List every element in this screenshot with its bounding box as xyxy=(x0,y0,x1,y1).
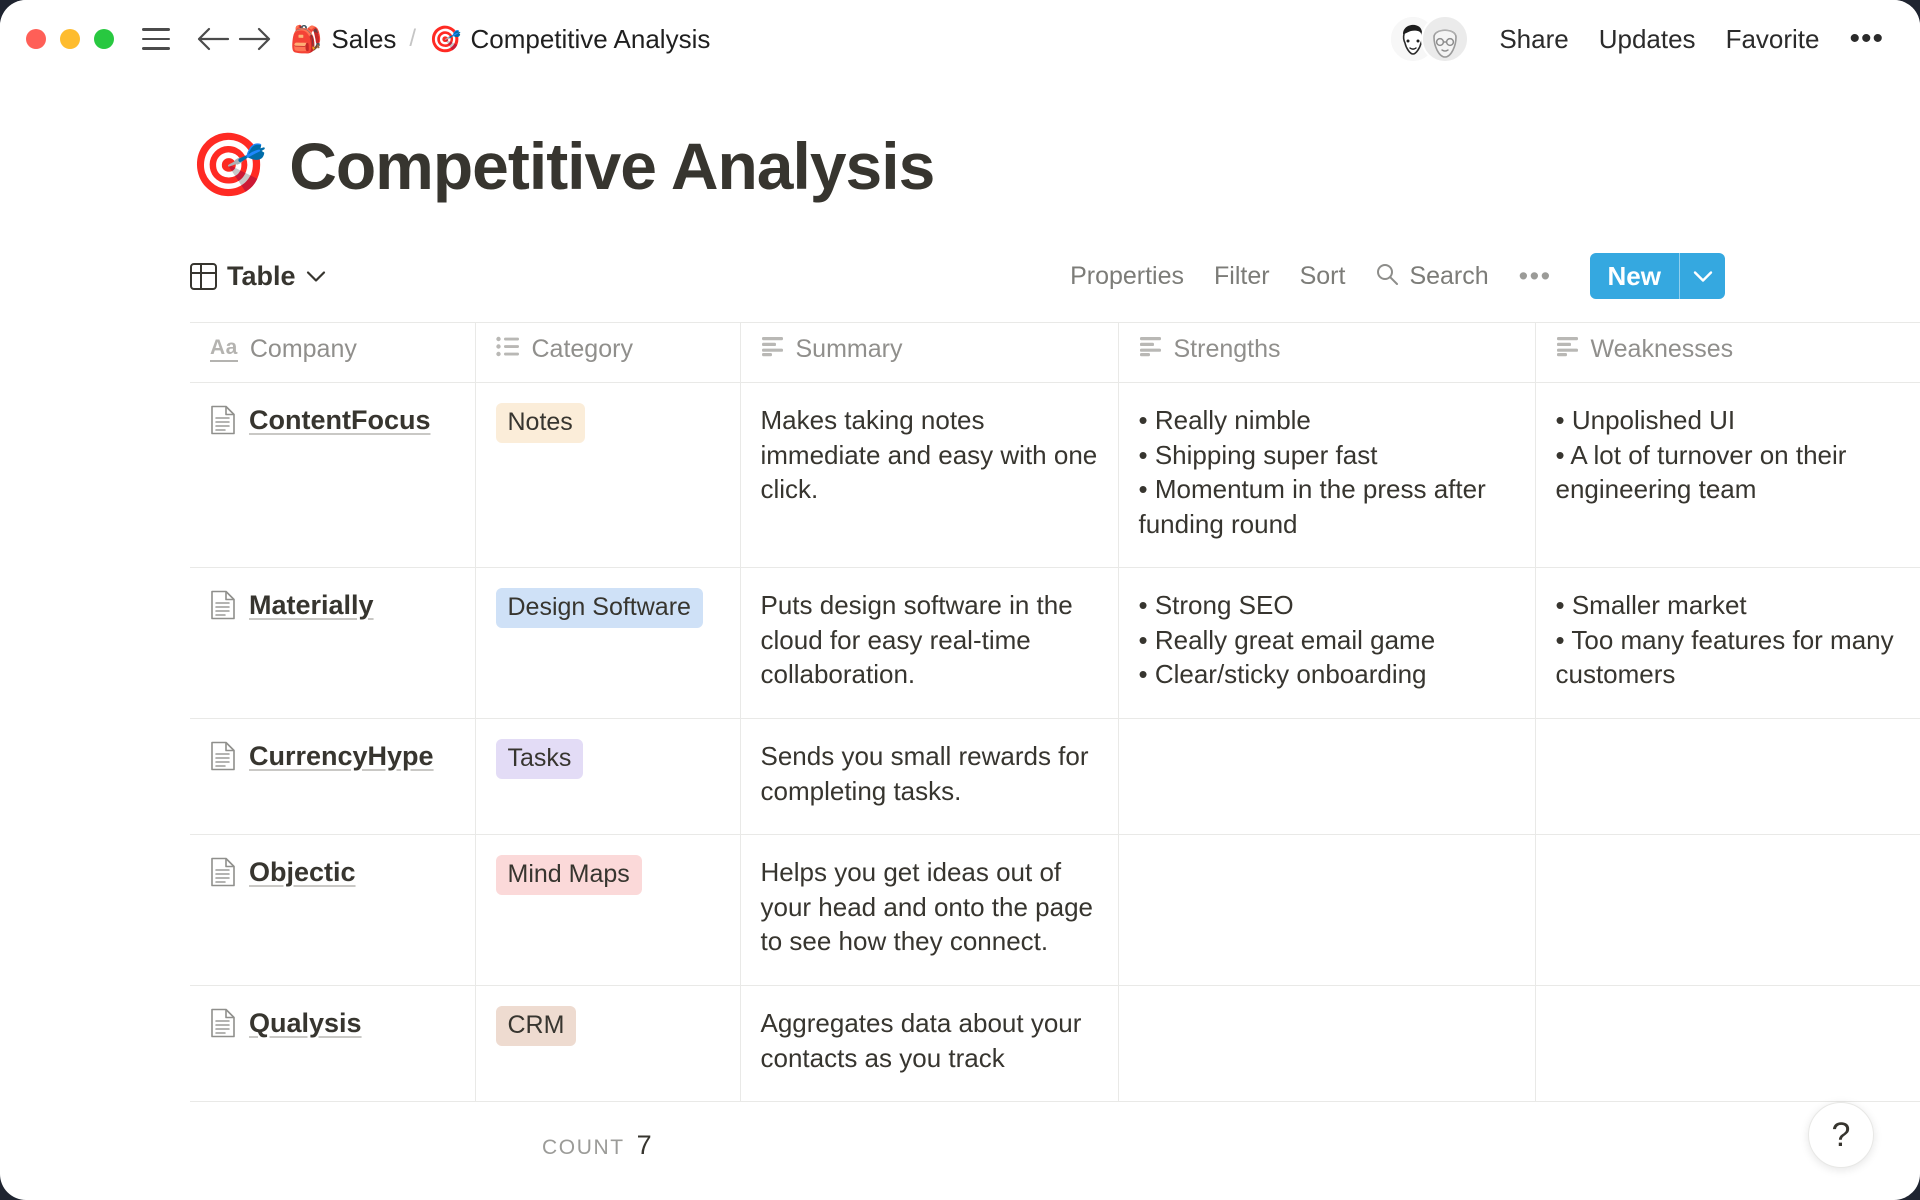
select-list-icon xyxy=(496,335,520,364)
new-button[interactable]: New xyxy=(1590,253,1725,299)
category-tag[interactable]: Mind Maps xyxy=(496,855,642,895)
navigate-forward-icon[interactable] xyxy=(234,18,276,60)
text-paragraph-icon xyxy=(1139,335,1162,364)
toolbar-actions: Properties Filter Sort Search ••• New xyxy=(1070,253,1725,299)
filter-button[interactable]: Filter xyxy=(1214,262,1270,291)
cell-company[interactable]: Materially xyxy=(190,568,475,719)
cell-category[interactable]: Notes xyxy=(475,383,740,568)
summary-text: Makes taking notes immediate and easy wi… xyxy=(761,405,1098,504)
text-paragraph-icon xyxy=(761,335,784,364)
window-controls xyxy=(26,29,114,49)
column-header-summary[interactable]: Summary xyxy=(740,323,1118,383)
summary-text: Helps you get ideas out of your head and… xyxy=(761,857,1094,956)
cell-category[interactable]: Design Software xyxy=(475,568,740,719)
summary-text: Aggregates data about your contacts as y… xyxy=(761,1008,1082,1073)
breadcrumb-current-link[interactable]: Competitive Analysis xyxy=(470,24,710,55)
table-row[interactable]: CurrencyHypeTasksSends you small rewards… xyxy=(190,719,1920,835)
maximize-window-button[interactable] xyxy=(94,29,114,49)
cell-strengths[interactable] xyxy=(1118,985,1535,1101)
cell-summary[interactable]: Makes taking notes immediate and easy wi… xyxy=(740,383,1118,568)
tab-table-view[interactable]: Table xyxy=(190,261,326,292)
page-document-icon xyxy=(210,857,236,896)
breadcrumb-separator: / xyxy=(409,25,416,53)
column-label: Company xyxy=(250,335,357,364)
target-icon: 🎯 xyxy=(429,26,461,52)
category-tag[interactable]: Tasks xyxy=(496,739,584,779)
cell-company[interactable]: ContentFocus xyxy=(190,383,475,568)
cell-weaknesses[interactable] xyxy=(1535,719,1920,835)
search-icon xyxy=(1375,262,1399,291)
search-label: Search xyxy=(1409,262,1488,291)
cell-company[interactable]: Objectic xyxy=(190,835,475,986)
company-name-link[interactable]: Qualysis xyxy=(249,1006,362,1042)
table-header-row: Aa Company xyxy=(190,323,1920,383)
page-document-icon xyxy=(210,741,236,780)
page-document-icon xyxy=(210,405,236,444)
summary-text: Puts design software in the cloud for ea… xyxy=(761,590,1073,689)
strengths-text: • Really nimble • Shipping super fast • … xyxy=(1139,405,1486,539)
close-window-button[interactable] xyxy=(26,29,46,49)
cell-weaknesses[interactable] xyxy=(1535,835,1920,986)
strengths-text: • Strong SEO • Really great email game •… xyxy=(1139,590,1436,689)
breadcrumb-parent-link[interactable]: Sales xyxy=(331,24,396,55)
share-button[interactable]: Share xyxy=(1499,24,1568,55)
cell-weaknesses[interactable]: • Smaller market • Too many features for… xyxy=(1535,568,1920,719)
column-header-strengths[interactable]: Strengths xyxy=(1118,323,1535,383)
column-label: Weaknesses xyxy=(1591,335,1734,364)
column-label: Summary xyxy=(796,335,903,364)
column-label: Strengths xyxy=(1174,335,1281,364)
title-bar: 🎒 Sales / 🎯 Competitive Analysis xyxy=(0,0,1920,78)
cell-company[interactable]: CurrencyHype xyxy=(190,719,475,835)
cell-strengths[interactable]: • Strong SEO • Really great email game •… xyxy=(1118,568,1535,719)
new-button-chevron-down-icon[interactable] xyxy=(1679,253,1725,299)
page-title[interactable]: Competitive Analysis xyxy=(289,128,934,204)
properties-button[interactable]: Properties xyxy=(1070,262,1184,291)
database-toolbar: Table Properties Filter Sort xyxy=(0,248,1920,304)
search-button[interactable]: Search xyxy=(1375,262,1488,291)
cell-strengths[interactable]: • Really nimble • Shipping super fast • … xyxy=(1118,383,1535,568)
database-table-container: Aa Company xyxy=(0,322,1920,1161)
sort-button[interactable]: Sort xyxy=(1300,262,1346,291)
page-document-icon xyxy=(210,1008,236,1047)
category-tag[interactable]: Design Software xyxy=(496,588,703,628)
backpack-icon: 🎒 xyxy=(290,26,322,52)
cell-summary[interactable]: Helps you get ideas out of your head and… xyxy=(740,835,1118,986)
cell-summary[interactable]: Puts design software in the cloud for ea… xyxy=(740,568,1118,719)
favorite-button[interactable]: Favorite xyxy=(1726,24,1820,55)
table-row[interactable]: QualysisCRMAggregates data about your co… xyxy=(190,985,1920,1101)
updates-button[interactable]: Updates xyxy=(1599,24,1696,55)
chevron-down-icon[interactable] xyxy=(306,270,326,283)
help-button[interactable]: ? xyxy=(1808,1102,1874,1168)
table-row[interactable]: MateriallyDesign SoftwarePuts design sof… xyxy=(190,568,1920,719)
column-label: Category xyxy=(532,335,633,364)
table-view-icon xyxy=(190,263,217,290)
cell-summary[interactable]: Aggregates data about your contacts as y… xyxy=(740,985,1118,1101)
count-value[interactable]: 7 xyxy=(637,1130,652,1161)
cell-category[interactable]: CRM xyxy=(475,985,740,1101)
toolbar-more-icon[interactable]: ••• xyxy=(1519,261,1552,292)
column-header-category[interactable]: Category xyxy=(475,323,740,383)
category-tag[interactable]: CRM xyxy=(496,1006,577,1046)
company-name-link[interactable]: ContentFocus xyxy=(249,403,431,439)
minimize-window-button[interactable] xyxy=(60,29,80,49)
avatar[interactable] xyxy=(1421,15,1469,63)
page-body: 🎯 Competitive Analysis Table Properties … xyxy=(0,78,1920,1200)
new-button-label: New xyxy=(1590,253,1679,299)
company-name-link[interactable]: CurrencyHype xyxy=(249,739,434,775)
column-header-company[interactable]: Aa Company xyxy=(190,323,475,383)
page-header: 🎯 Competitive Analysis xyxy=(0,78,1920,204)
cell-strengths[interactable] xyxy=(1118,835,1535,986)
view-tab-label: Table xyxy=(227,261,296,292)
navigate-back-icon[interactable] xyxy=(192,18,234,60)
category-tag[interactable]: Notes xyxy=(496,403,585,443)
text-paragraph-icon xyxy=(1556,335,1579,364)
column-header-weaknesses[interactable]: Weaknesses xyxy=(1535,323,1920,383)
cell-category[interactable]: Tasks xyxy=(475,719,740,835)
sidebar-toggle-icon[interactable] xyxy=(136,19,176,59)
database-table: Aa Company xyxy=(190,322,1920,1102)
company-name-link[interactable]: Materially xyxy=(249,588,374,624)
more-options-icon[interactable]: ••• xyxy=(1849,22,1884,56)
cell-strengths[interactable] xyxy=(1118,719,1535,835)
cell-weaknesses[interactable] xyxy=(1535,985,1920,1101)
titlebar-actions: Share Updates Favorite ••• xyxy=(1389,15,1884,63)
table-footer: COUNT 7 xyxy=(190,1102,1920,1161)
page-document-icon xyxy=(210,590,236,629)
count-label: COUNT xyxy=(542,1136,625,1160)
cell-weaknesses[interactable]: • Unpolished UI • A lot of turnover on t… xyxy=(1535,383,1920,568)
weaknesses-text: • Smaller market • Too many features for… xyxy=(1556,590,1894,689)
cell-company[interactable]: Qualysis xyxy=(190,985,475,1101)
breadcrumb: 🎒 Sales / 🎯 Competitive Analysis xyxy=(290,24,710,55)
weaknesses-text: • Unpolished UI • A lot of turnover on t… xyxy=(1556,405,1847,504)
app-window: 🎒 Sales / 🎯 Competitive Analysis xyxy=(0,0,1920,1200)
table-row[interactable]: ObjecticMind MapsHelps you get ideas out… xyxy=(190,835,1920,986)
company-name-link[interactable]: Objectic xyxy=(249,855,356,891)
table-row[interactable]: ContentFocusNotesMakes taking notes imme… xyxy=(190,383,1920,568)
summary-text: Sends you small rewards for completing t… xyxy=(761,741,1089,806)
collaborator-avatars[interactable] xyxy=(1389,15,1469,63)
title-text-icon: Aa xyxy=(210,337,238,361)
cell-category[interactable]: Mind Maps xyxy=(475,835,740,986)
page-target-icon[interactable]: 🎯 xyxy=(190,135,267,197)
question-mark-icon: ? xyxy=(1832,1116,1851,1155)
cell-summary[interactable]: Sends you small rewards for completing t… xyxy=(740,719,1118,835)
